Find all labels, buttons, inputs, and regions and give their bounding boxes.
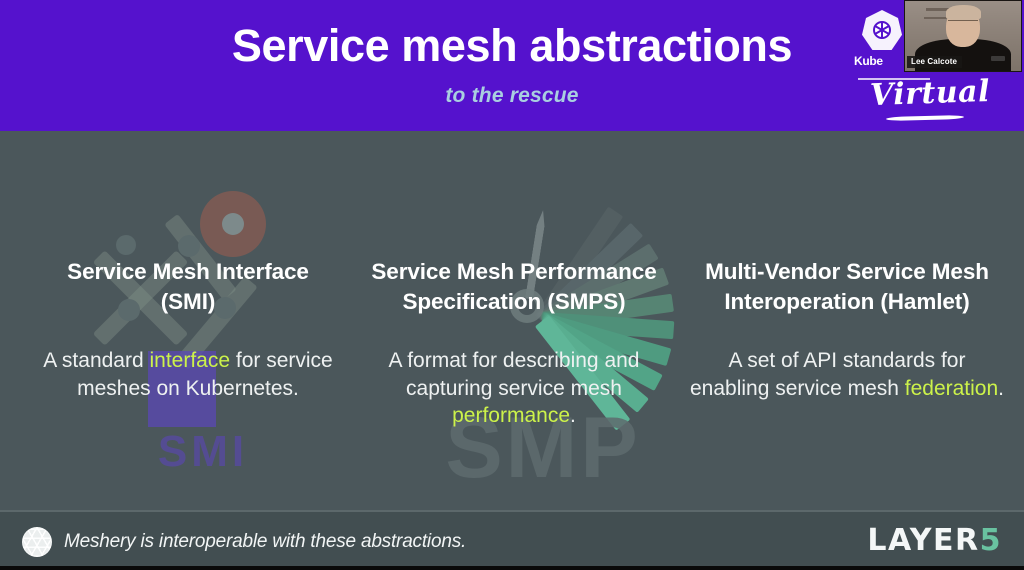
letterbox-bar	[0, 566, 1024, 570]
column-body-pre: A format for describing and capturing se…	[389, 349, 640, 400]
abstraction-column-hamlet: Multi-Vendor Service Mesh Interoperation…	[686, 131, 1008, 512]
footer-tagline: Meshery is interoperable with these abst…	[64, 531, 466, 553]
abstraction-column-smi: Service Mesh Interface (SMI) A standard …	[30, 131, 346, 512]
layer5-logo: LAYER5	[867, 526, 1002, 556]
slide-body: SMI SMP Service Mesh Interface (SMI)	[0, 131, 1024, 512]
presentation-slide: Service mesh abstractions to the rescue …	[0, 0, 1024, 570]
meshery-mesh-circle-icon	[22, 527, 52, 557]
column-title-line1: Multi-Vendor Service Mesh	[705, 259, 989, 284]
column-title-line2: (SMI)	[161, 289, 216, 314]
column-title-line2: Interoperation (Hamlet)	[724, 289, 969, 314]
column-body-hamlet: A set of API standards for enabling serv…	[686, 347, 1008, 402]
column-title-line2: Specification (SMPS)	[402, 289, 625, 314]
kubernetes-helm-spoke	[875, 25, 890, 35]
virtual-underline-flourish	[886, 115, 964, 121]
column-title-line1: Service Mesh Performance	[371, 259, 656, 284]
speaker-webcam-tile[interactable]: Lee Calcote	[904, 0, 1022, 72]
slide-footer: Meshery is interoperable with these abst…	[0, 512, 1024, 570]
column-body-smps: A format for describing and capturing se…	[356, 347, 672, 430]
layer5-digit: 5	[980, 523, 1002, 558]
column-body-pre: A standard	[43, 349, 149, 372]
kubernetes-logo-label: Kube	[854, 54, 883, 68]
column-title-hamlet: Multi-Vendor Service Mesh Interoperation…	[686, 257, 1008, 317]
webcam-speaker-glasses	[948, 20, 978, 28]
slide-header: Service mesh abstractions to the rescue …	[0, 0, 1024, 131]
layer5-wordmark: LAYER	[867, 523, 979, 558]
column-title-smps: Service Mesh Performance Specification (…	[356, 257, 672, 317]
column-body-highlight: interface	[150, 349, 231, 372]
column-body-smi: A standard interface for service meshes …	[30, 347, 346, 402]
abstraction-column-smps: Service Mesh Performance Specification (…	[356, 131, 672, 512]
kubernetes-helm-wheel	[873, 21, 891, 39]
column-body-highlight: performance	[452, 404, 570, 427]
webcam-shirt-logo	[991, 56, 1005, 61]
speaker-name-label: Lee Calcote	[907, 56, 962, 68]
column-body-rest: .	[570, 404, 576, 427]
column-title-line1: Service Mesh Interface	[67, 259, 309, 284]
column-body-rest: .	[998, 377, 1004, 400]
webcam-speaker-hair	[946, 5, 981, 20]
column-title-smi: Service Mesh Interface (SMI)	[30, 257, 346, 317]
column-body-highlight: federation	[905, 377, 998, 400]
virtual-label: Virtual	[869, 74, 990, 113]
